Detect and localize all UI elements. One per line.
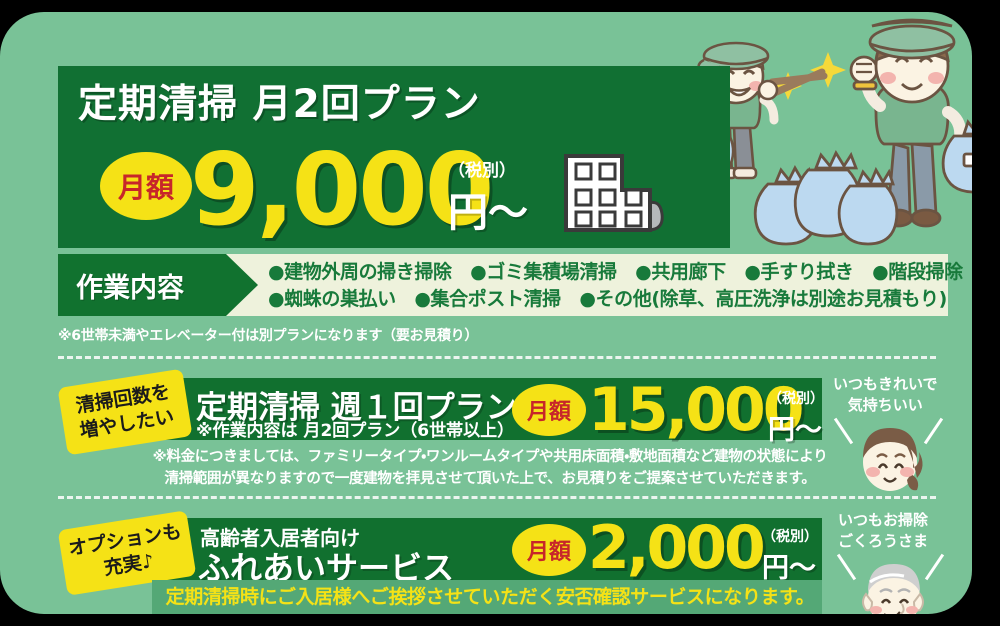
monthly-badge-2: 月額 [512,384,586,436]
trash-bags-icon [755,153,897,244]
advertisement-poster: 定期清掃 月2回プラン 月額 9,000 （税別） 円〜 作業内容 ●建物外周の… [0,0,1000,626]
work-content-tag-label: 作業内容 [76,266,184,305]
poster-card: 定期清掃 月2回プラン 月額 9,000 （税別） 円〜 作業内容 ●建物外周の… [0,12,972,614]
price-value-1: 9,000 [190,140,491,240]
tax-note-1: （税別） [448,156,516,181]
testimonial-bubble-1-line-2: 気持ちいい [833,395,938,416]
young-woman-face-icon [853,424,927,494]
plan-weekly-note: ※料金につきましては、ファミリータイプ・ワンルームタイプや共用床面積・敷地面積な… [150,446,830,490]
plan-weekly-note-line-1: ※料金につきましては、ファミリータイプ・ワンルームタイプや共用床面積・敷地面積な… [150,446,830,468]
work-content-line-2: ●蜘蛛の巣払い ●集合ポスト清掃 ●その他(除草、高圧洗浄は別途お見積もり) [268,286,944,313]
work-content-list: ●建物外周の掃き掃除 ●ゴミ集積場清掃 ●共用廊下 ●手すり拭き ●階段掃除 ●… [268,259,944,313]
work-content-tag: 作業内容 [58,254,258,316]
plan-monthly-twice-title: 定期清掃 月2回プラン [78,82,548,128]
testimonial-bubble-1: いつもきれいで 気持ちいい [833,374,938,416]
testimonial-bubble-2-line-2: ごくろうさま [838,531,928,552]
bubble-tick-left-2 [837,554,856,581]
work-content-footnote: ※6世帯未満やエレベーター付は別プランになります（要お見積り） [58,325,478,345]
divider-1 [58,356,936,359]
work-content-line-1: ●建物外周の掃き掃除 ●ゴミ集積場清掃 ●共用廊下 ●手すり拭き ●階段掃除 [268,259,944,286]
tax-note-2: （税別） [768,388,824,408]
monthly-badge-3: 月額 [512,524,586,576]
option-service-description: 定期清掃時にご入居様へご挨拶させていただく安否確認サービスになります。 [150,582,830,609]
bubble-tick-left-1 [834,418,853,445]
testimonial-bubble-2: いつもお掃除 ごくろうさま [838,510,928,552]
price-value-3: 2,000 [588,518,763,578]
testimonial-bubble-1-line-1: いつもきれいで [833,374,938,395]
yen-suffix-1: 円〜 [448,180,528,238]
monthly-badge-1: 月額 [100,152,192,220]
yen-suffix-2: 円〜 [768,408,822,447]
apartment-building-icon [560,150,664,242]
elderly-person-face-icon [858,560,930,614]
testimonial-bubble-2-line-1: いつもお掃除 [838,510,928,531]
tax-note-3: （税別） [762,526,818,546]
plan-weekly-subtitle: ※作業内容は 月2回プラン（6世帯以上） [196,416,514,441]
tag-increase-frequency: 清掃回数を 増やしたい [57,369,192,456]
plan-weekly-note-line-2: 清掃範囲が異なりますので一度建物を拝見させて頂いた上で、お見積りをご提案させてい… [150,468,830,490]
divider-2 [58,496,936,499]
